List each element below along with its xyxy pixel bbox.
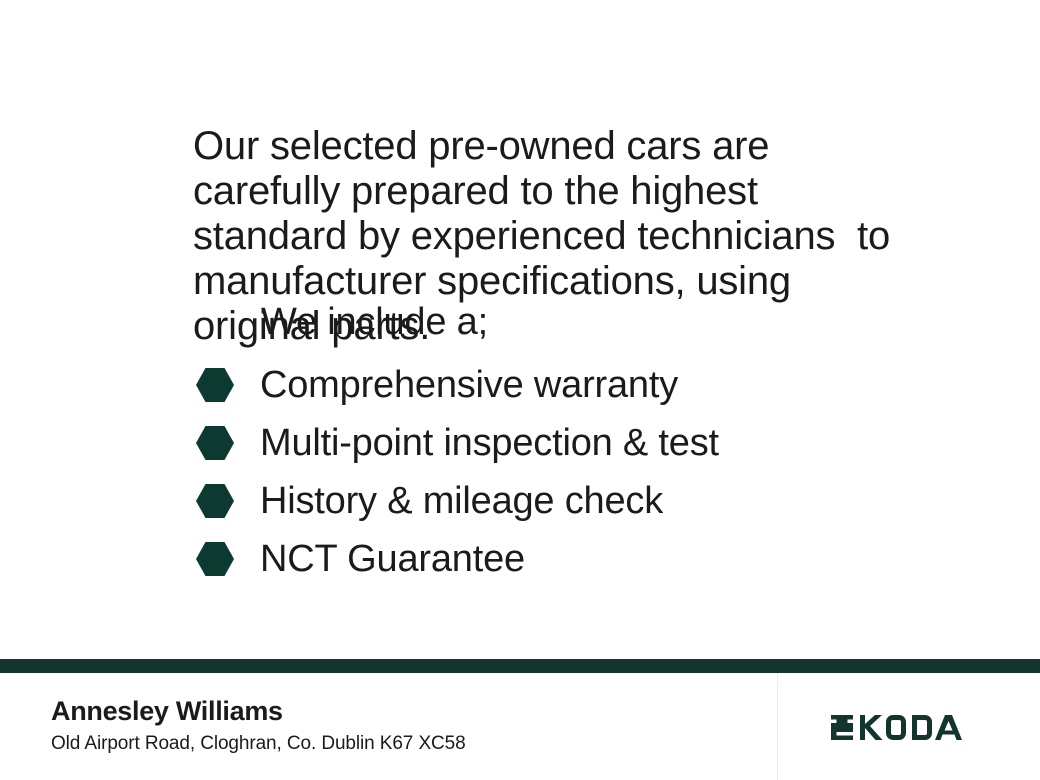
promo-slide: Our selected pre-owned cars are carefull… — [0, 0, 1040, 780]
hexagon-bullet-icon — [196, 542, 234, 576]
hexagon-bullet-icon — [196, 368, 234, 402]
list-item: Comprehensive warranty — [196, 356, 836, 414]
skoda-logo — [777, 673, 1040, 780]
list-item: Multi-point inspection & test — [196, 414, 836, 472]
list-item-label: NCT Guarantee — [260, 537, 525, 581]
list-item-label: Comprehensive warranty — [260, 363, 678, 407]
benefits-list: Comprehensive warranty Multi-point inspe… — [196, 356, 836, 588]
list-item: History & mileage check — [196, 472, 836, 530]
brand-divider-bar — [0, 659, 1040, 673]
hexagon-bullet-icon — [196, 426, 234, 460]
list-item-label: Multi-point inspection & test — [260, 421, 719, 465]
dealer-address: Old Airport Road, Cloghran, Co. Dublin K… — [51, 732, 466, 756]
skoda-wordmark-icon — [829, 712, 989, 742]
include-heading: We include a; — [261, 300, 488, 344]
dealer-name: Annesley Williams — [51, 695, 283, 727]
hexagon-bullet-icon — [196, 484, 234, 518]
list-item-label: History & mileage check — [260, 479, 663, 523]
list-item: NCT Guarantee — [196, 530, 836, 588]
